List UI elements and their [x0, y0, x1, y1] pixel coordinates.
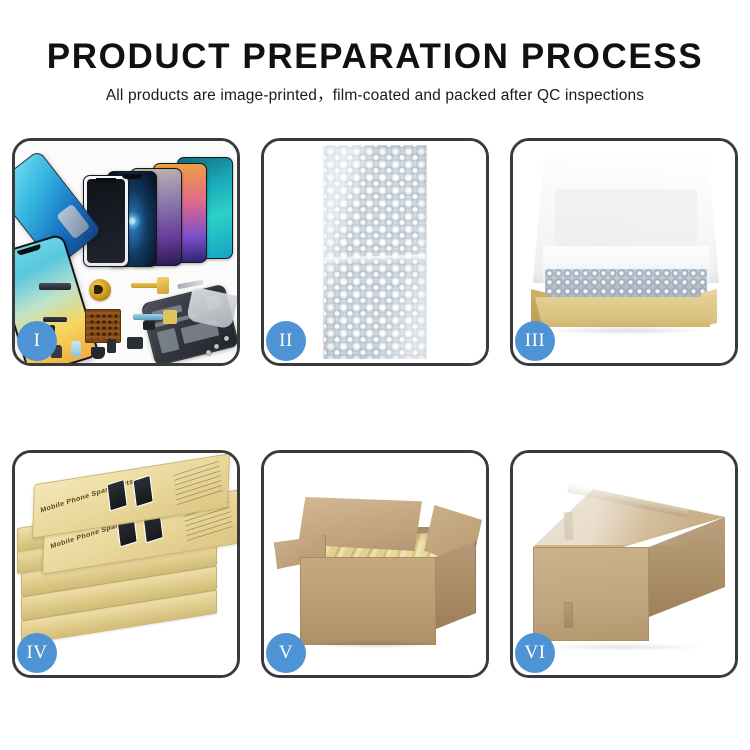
carton-shadow: [543, 643, 703, 651]
small-part-icon: [143, 321, 155, 330]
step-badge-5: V: [266, 633, 306, 673]
box-spec-lines: [173, 461, 223, 506]
step-badge-4: IV: [17, 633, 57, 673]
carton-front-panel: [533, 547, 649, 641]
box-shadow: [547, 326, 705, 335]
small-part-icon: [91, 347, 105, 359]
screw-icon: [206, 350, 211, 355]
phone-notch-icon: [96, 178, 116, 183]
carton-tape-strip: [565, 513, 573, 539]
step-panel-5: V: [261, 450, 489, 678]
step-panel-3: III: [510, 138, 738, 366]
step-badge-2: II: [266, 321, 306, 361]
page-subtitle: All products are image-printed，film-coat…: [0, 86, 750, 106]
battery-strip-part-icon: [39, 283, 71, 290]
box-front-panel: [535, 297, 717, 327]
carton-shadow: [310, 640, 440, 649]
header: PRODUCT PREPARATION PROCESS All products…: [0, 36, 750, 106]
small-part-icon: [71, 341, 81, 357]
screw-icon: [224, 336, 229, 341]
page-title: PRODUCT PREPARATION PROCESS: [0, 36, 750, 78]
phone-notch-icon: [17, 244, 41, 256]
bubble-wrapped-item-icon: [545, 269, 707, 301]
step-badge-1: I: [17, 321, 57, 361]
product-preparation-infographic: PRODUCT PREPARATION PROCESS All products…: [0, 0, 750, 750]
step-panel-4: Mobile Phone Spare Parts Mobile Phone Sp…: [12, 450, 240, 678]
small-part-icon: [127, 337, 143, 349]
step-badge-6: VI: [515, 633, 555, 673]
plate-detail: [157, 328, 180, 354]
carton-tape-strip: [565, 603, 572, 627]
chip-grid-part-icon: [85, 309, 121, 343]
phone-lineup-group: [73, 157, 237, 272]
carton-front-panel: [300, 557, 436, 645]
screw-icon: [214, 344, 219, 349]
process-steps-grid: I II: [12, 138, 738, 678]
speaker-part-icon: [89, 279, 111, 301]
step-panel-1: I: [12, 138, 240, 366]
flex-cable-blue-icon: [133, 309, 177, 329]
phone-notch-icon: [122, 174, 142, 179]
flex-cable-gold-icon: [131, 277, 169, 295]
small-part-icon: [107, 339, 116, 353]
step-panel-2: II: [261, 138, 489, 366]
step-panel-6: VI: [510, 450, 738, 678]
step-badge-3: III: [515, 321, 555, 361]
bubble-wrap-pouch-icon: [323, 145, 427, 359]
box-artwork-phone-icon: [132, 475, 153, 508]
box-artwork-phone-icon: [106, 479, 127, 512]
